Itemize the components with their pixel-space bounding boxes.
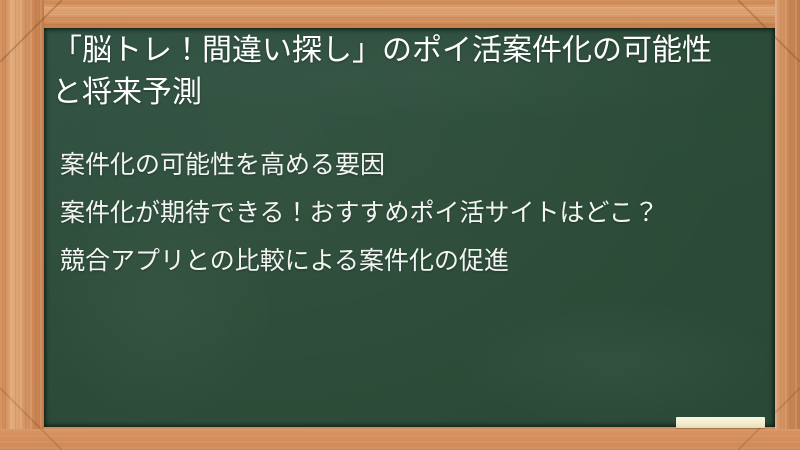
toc-item-1: 案件化の可能性を高める要因 xyxy=(52,146,734,184)
frame-ledge-bottom xyxy=(0,429,800,450)
frame-rail-left xyxy=(0,0,44,450)
chalkboard-surface: 「脳トレ！間違い探し」のポイ活案件化の可能性と将来予測 案件化の可能性を高める要… xyxy=(44,28,775,427)
toc-item-2: 案件化が期待できる！おすすめポイ活サイトはどこ？ xyxy=(52,194,734,232)
toc-item-3: 競合アプリとの比較による案件化の促進 xyxy=(52,242,734,280)
slide-title: 「脳トレ！間違い探し」のポイ活案件化の可能性と将来予測 xyxy=(52,30,724,114)
frame-rail-right xyxy=(775,0,800,450)
chalk-stick-icon xyxy=(676,417,765,428)
frame-rail-top xyxy=(0,0,800,28)
chalkboard-content: 「脳トレ！間違い探し」のポイ活案件化の可能性と将来予測 案件化の可能性を高める要… xyxy=(44,28,775,427)
blackboard-slide: 「脳トレ！間違い探し」のポイ活案件化の可能性と将来予測 案件化の可能性を高める要… xyxy=(0,0,800,450)
table-of-contents: 案件化の可能性を高める要因 案件化が期待できる！おすすめポイ活サイトはどこ？ 競… xyxy=(52,146,734,290)
